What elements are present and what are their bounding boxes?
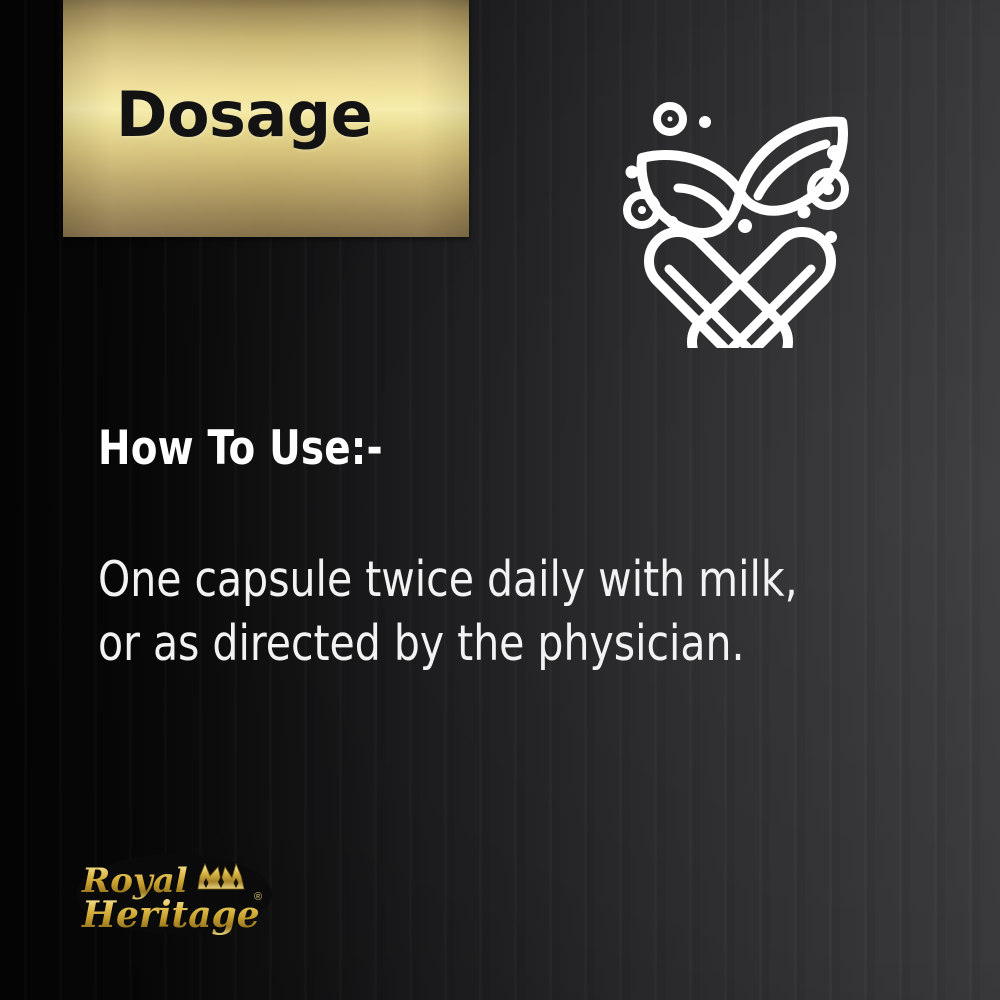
dosage-line-1: One capsule twice daily with milk, xyxy=(98,548,861,612)
dot-solid-midright xyxy=(798,206,811,219)
dosage-poster: Dosage xyxy=(0,0,1000,1000)
dosage-instructions: One capsule twice daily with milk, or as… xyxy=(98,548,861,676)
dot-solid-right xyxy=(825,231,837,243)
registered-trademark-mark: ® xyxy=(254,891,262,903)
dot-solid-left xyxy=(626,166,639,179)
title-banner: Dosage xyxy=(63,0,469,237)
dot-solid-top xyxy=(699,116,711,128)
dot-core-top-left xyxy=(668,117,673,122)
dot-solid-midleft xyxy=(666,216,678,228)
dot-core-right xyxy=(822,183,834,195)
dot-solid-center xyxy=(738,219,752,233)
logo-word-heritage: Heritage xyxy=(81,894,260,936)
dot-solid-upper-right xyxy=(827,145,843,161)
dot-core-left xyxy=(638,206,646,214)
leaf-small-vein xyxy=(678,188,726,216)
dosage-line-2: or as directed by the physician. xyxy=(98,612,861,676)
how-to-use-heading: How To Use:- xyxy=(98,423,383,475)
capsule-group xyxy=(649,232,831,348)
herbal-capsule-icon xyxy=(612,92,868,348)
page-title: Dosage xyxy=(116,84,372,146)
brand-logo: Royal Heritage ® xyxy=(74,848,274,940)
